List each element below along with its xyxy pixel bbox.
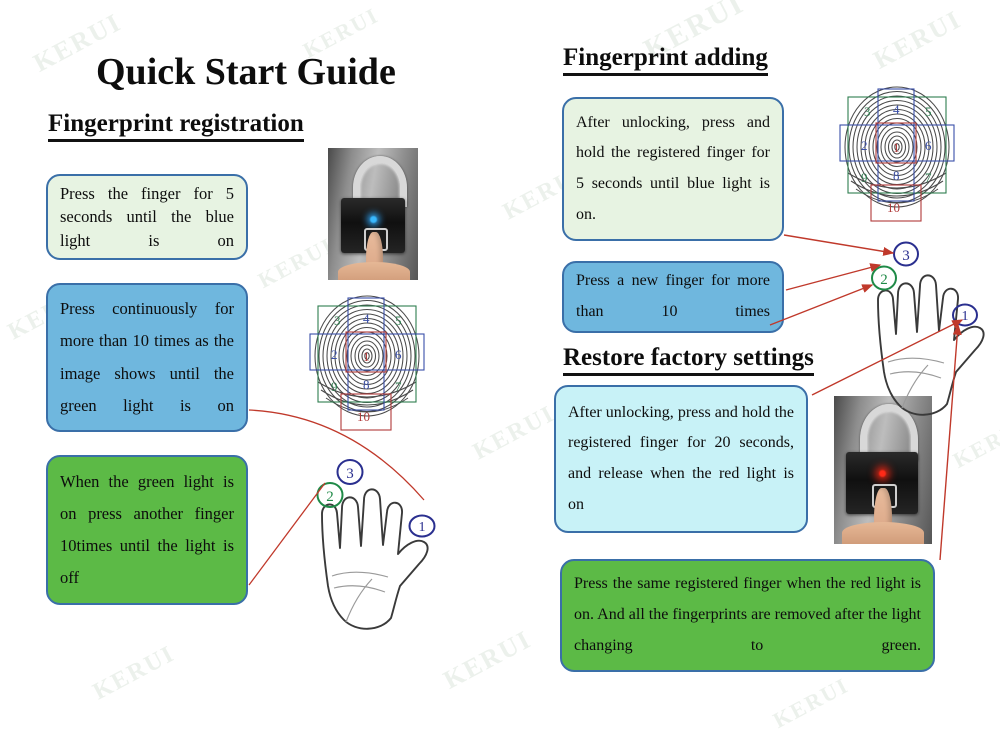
callout-restore-2: Press the same registered finger when th… bbox=[560, 559, 935, 672]
zone-label-10: 10 bbox=[887, 200, 900, 215]
zone-label-1: 1 bbox=[363, 349, 370, 364]
zone-label-7: 7 bbox=[395, 379, 402, 394]
fingerprint-zone-map-right: 1 2 3 4 5 6 7 8 9 10 bbox=[840, 87, 954, 221]
zone-label-4: 4 bbox=[363, 311, 370, 326]
zone-label-2: 2 bbox=[331, 347, 338, 362]
zone-label-3: 3 bbox=[334, 313, 341, 328]
marker-3: 3 bbox=[894, 243, 918, 266]
svg-text:2: 2 bbox=[326, 489, 334, 505]
zone-label-10: 10 bbox=[357, 409, 370, 424]
zone-label-3: 3 bbox=[864, 104, 871, 119]
hand-below bbox=[338, 262, 410, 280]
callout-step-2-text: Press continuously for more than 10 time… bbox=[48, 293, 246, 422]
watermark: KERUI bbox=[89, 641, 180, 706]
watermark: KERUI bbox=[254, 232, 339, 294]
watermark: KERUI bbox=[439, 624, 537, 695]
callout-step-3: When the green light is on press another… bbox=[46, 455, 248, 605]
watermark: KERUI bbox=[949, 412, 1000, 474]
page-title: Quick Start Guide bbox=[96, 50, 396, 94]
padlock-red-led-photo bbox=[834, 396, 932, 544]
connector-lines-left bbox=[249, 410, 424, 585]
watermark: KERUI bbox=[469, 401, 560, 466]
svg-text:1: 1 bbox=[962, 309, 969, 324]
padlock-blue-led-photo bbox=[328, 148, 418, 280]
zone-label-6: 6 bbox=[925, 138, 932, 153]
section-title-fingerprint-adding: Fingerprint adding bbox=[563, 44, 768, 76]
marker-2: 2 bbox=[872, 267, 896, 290]
arrow-add2-to-marker2 bbox=[786, 265, 880, 290]
connector-step3-to-marker2 bbox=[249, 483, 325, 585]
svg-text:2: 2 bbox=[880, 272, 888, 288]
hand-finger-map-right: 1 2 3 bbox=[872, 243, 984, 415]
callout-add-1: After unlocking, press and hold the regi… bbox=[562, 97, 784, 241]
callout-restore-1: After unlocking, press and hold the regi… bbox=[554, 385, 808, 533]
hand-below bbox=[842, 522, 924, 544]
callout-step-2: Press continuously for more than 10 time… bbox=[46, 283, 248, 432]
zone-label-6: 6 bbox=[395, 347, 402, 362]
zone-label-7: 7 bbox=[925, 170, 932, 185]
marker-1: 1 bbox=[410, 516, 435, 537]
zone-label-1: 1 bbox=[893, 140, 900, 155]
arrow-restore-to-index bbox=[770, 285, 872, 325]
zone-label-9: 9 bbox=[331, 379, 338, 394]
marker-3: 3 bbox=[338, 460, 363, 484]
callout-step-1: Press the finger for 5 seconds until the… bbox=[46, 174, 248, 260]
callout-restore-1-text: After unlocking, press and hold the regi… bbox=[556, 398, 806, 521]
callout-step-1-text: Press the finger for 5 seconds until the… bbox=[48, 182, 246, 251]
marker-1: 1 bbox=[953, 305, 977, 326]
callout-add-1-text: After unlocking, press and hold the regi… bbox=[564, 108, 782, 231]
zone-label-5: 5 bbox=[925, 104, 932, 119]
arrow-restore2-to-marker1 bbox=[940, 325, 958, 560]
connector-step2-to-hand bbox=[249, 410, 424, 500]
hand-finger-map-left: 1 2 3 bbox=[318, 460, 435, 629]
zone-label-4: 4 bbox=[893, 102, 900, 117]
led-indicator-blue bbox=[370, 216, 377, 223]
led-indicator-red bbox=[879, 470, 886, 477]
section-title-restore-factory-settings: Restore factory settings bbox=[563, 344, 814, 376]
callout-add-2-text: Press a new finger for more than 10 time… bbox=[564, 266, 782, 327]
zone-label-2: 2 bbox=[861, 138, 868, 153]
zone-label-5: 5 bbox=[395, 313, 402, 328]
svg-text:3: 3 bbox=[346, 466, 354, 482]
callout-restore-2-text: Press the same registered finger when th… bbox=[562, 569, 933, 661]
arrow-add1-to-marker3 bbox=[784, 235, 893, 253]
zone-label-9: 9 bbox=[861, 170, 868, 185]
svg-text:3: 3 bbox=[902, 248, 910, 264]
marker-2: 2 bbox=[318, 483, 343, 507]
zone-label-8: 8 bbox=[363, 377, 370, 392]
fingerprint-zone-map-left: 1 2 3 4 5 6 7 8 9 10 bbox=[310, 296, 424, 430]
callout-add-2: Press a new finger for more than 10 time… bbox=[562, 261, 784, 333]
zone-label-8: 8 bbox=[893, 168, 900, 183]
section-title-fingerprint-registration: Fingerprint registration bbox=[48, 110, 304, 142]
svg-text:1: 1 bbox=[419, 520, 426, 535]
arrow-padlock-to-thumb bbox=[812, 320, 962, 395]
watermark: KERUI bbox=[869, 4, 967, 75]
callout-step-3-text: When the green light is on press another… bbox=[48, 466, 246, 595]
